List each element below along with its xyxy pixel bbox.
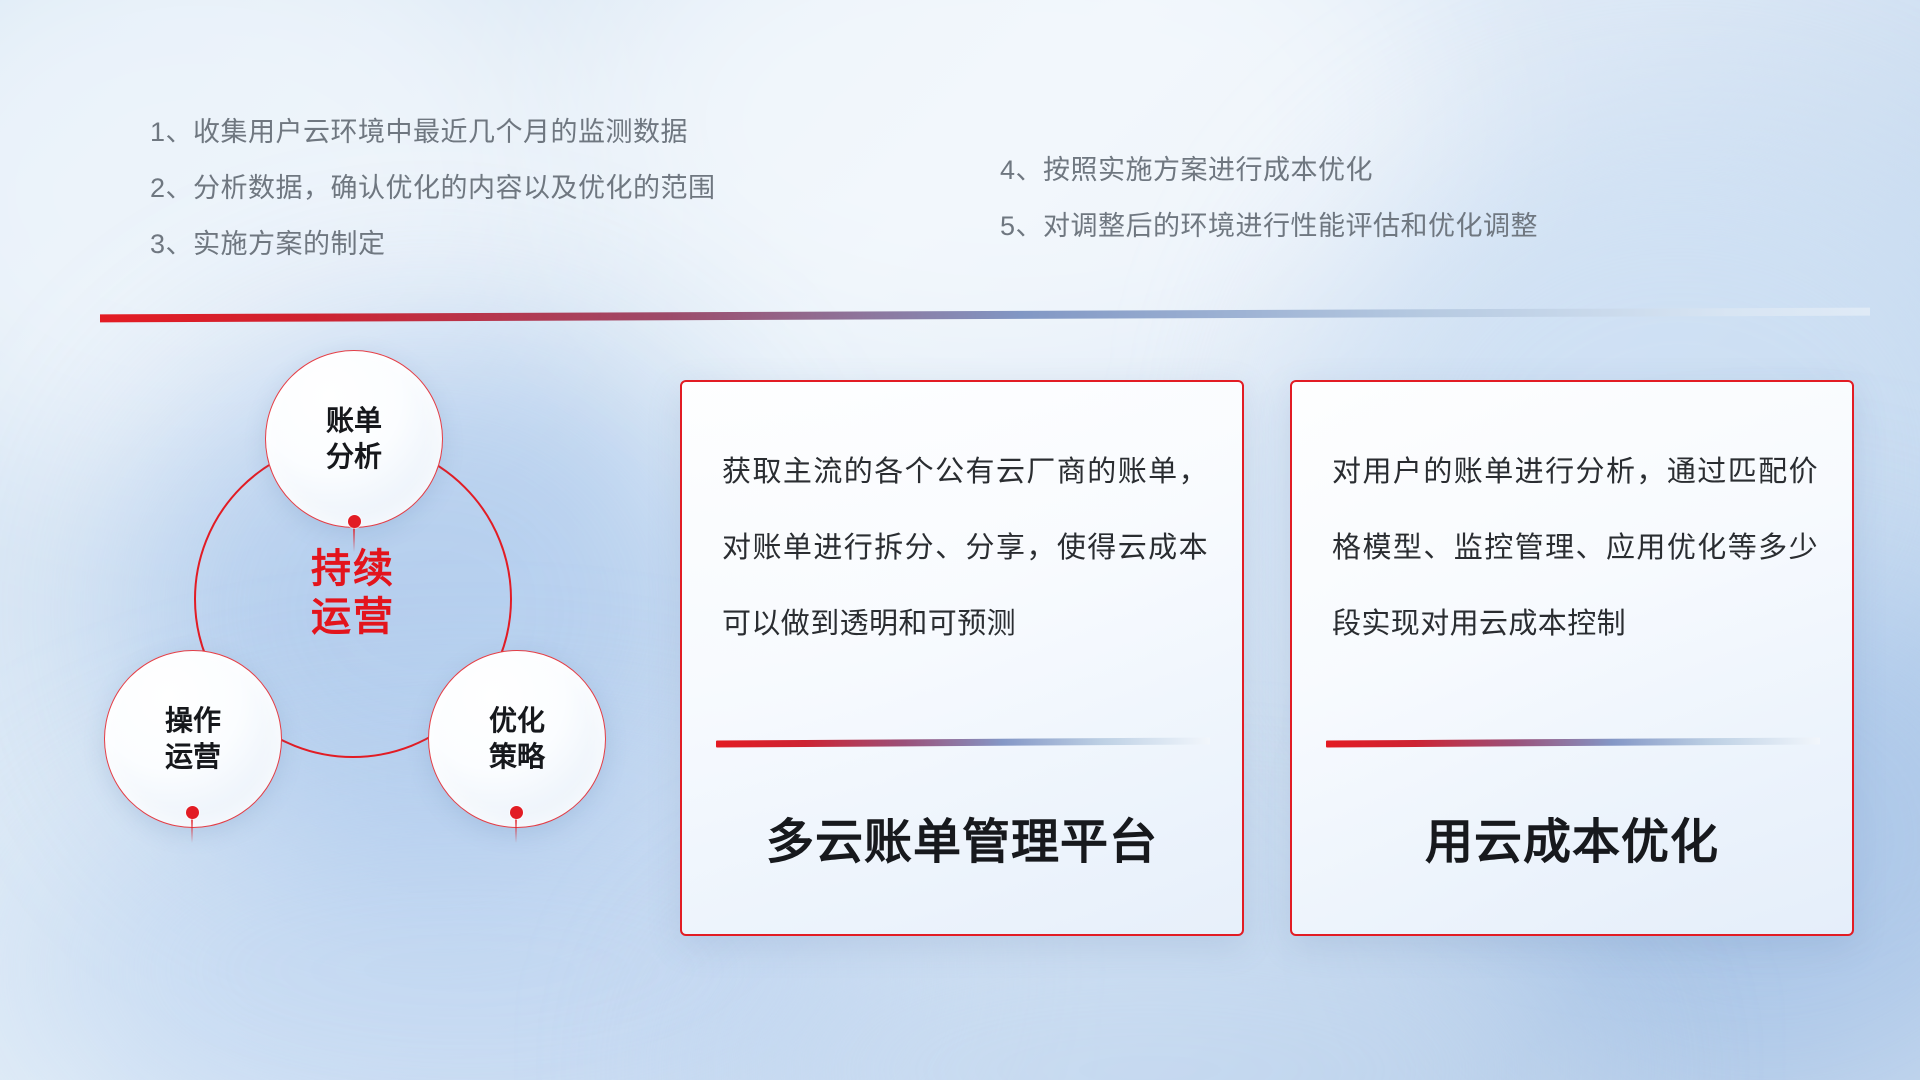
card-title: 用云成本优化 xyxy=(1292,802,1852,872)
card-description: 获取主流的各个公有云厂商的账单，对账单进行拆分、分享，使得云成本可以做到透明和可… xyxy=(722,434,1208,662)
cycle-diagram: 持续 运营 账单 分析 操作 运营 优化 策略 xyxy=(90,350,650,940)
diagram-node-optimization-strategy[interactable]: 优化 策略 xyxy=(428,650,606,828)
diagram-node-tail xyxy=(515,817,517,843)
step-item-4: 4、按照实施方案进行成本优化 xyxy=(1000,142,1538,198)
diagram-node-label: 优化 策略 xyxy=(489,703,545,775)
card-description: 对用户的账单进行分析，通过匹配价格模型、监控管理、应用优化等多少段实现对用云成本… xyxy=(1332,434,1818,662)
diagram-node-label: 操作 运营 xyxy=(165,703,221,775)
step-item-2: 2、分析数据，确认优化的内容以及优化的范围 xyxy=(150,160,716,216)
steps-right-column: 4、按照实施方案进行成本优化 5、对调整后的环境进行性能评估和优化调整 xyxy=(1000,142,1538,254)
slide-canvas: 1、收集用户云环境中最近几个月的监测数据 2、分析数据，确认优化的内容以及优化的… xyxy=(0,0,1920,1080)
card-title: 多云账单管理平台 xyxy=(682,802,1242,872)
diagram-node-tail xyxy=(191,817,193,843)
step-item-3: 3、实施方案的制定 xyxy=(150,216,716,272)
diagram-node-label: 账单 分析 xyxy=(326,403,382,475)
steps-left-column: 1、收集用户云环境中最近几个月的监测数据 2、分析数据，确认优化的内容以及优化的… xyxy=(150,104,716,272)
diagram-node-tail xyxy=(353,526,355,552)
step-item-5: 5、对调整后的环境进行性能评估和优化调整 xyxy=(1000,198,1538,254)
diagram-node-dot xyxy=(510,806,523,819)
card-divider xyxy=(716,737,1210,747)
section-divider xyxy=(100,308,1870,323)
feature-card-cost-optimization[interactable]: 对用户的账单进行分析，通过匹配价格模型、监控管理、应用优化等多少段实现对用云成本… xyxy=(1290,380,1854,936)
card-divider xyxy=(1326,737,1820,747)
diagram-center-label: 持续 运营 xyxy=(194,545,512,641)
diagram-node-dot xyxy=(348,515,361,528)
feature-card-multicloud-billing[interactable]: 获取主流的各个公有云厂商的账单，对账单进行拆分、分享，使得云成本可以做到透明和可… xyxy=(680,380,1244,936)
step-item-1: 1、收集用户云环境中最近几个月的监测数据 xyxy=(150,104,716,160)
diagram-node-dot xyxy=(186,806,199,819)
diagram-node-operations[interactable]: 操作 运营 xyxy=(104,650,282,828)
diagram-node-bill-analysis[interactable]: 账单 分析 xyxy=(265,350,443,528)
